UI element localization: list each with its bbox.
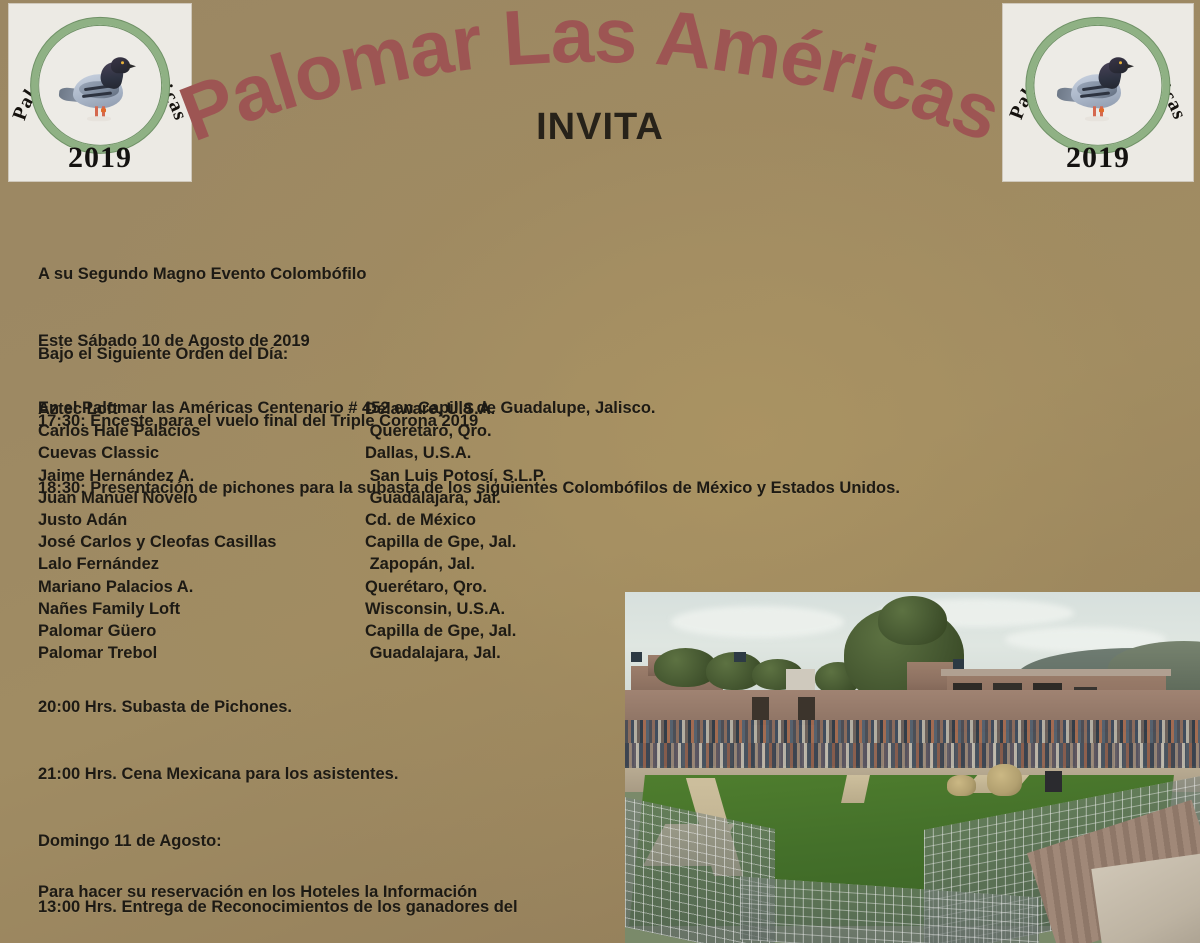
agenda-heading: Bajo el Siguiente Orden del Día: xyxy=(38,343,900,365)
loft-name: Aztec Loft xyxy=(38,398,365,420)
hotels-line: Para hacer su reservación en los Hoteles… xyxy=(38,881,477,903)
loft-location: Capilla de Gpe, Jal. xyxy=(365,531,516,553)
loft-row: Palomar GüeroCapilla de Gpe, Jal. xyxy=(38,620,618,642)
loft-location: Dallas, U.S.A. xyxy=(365,442,471,464)
loft-location: San Luis Potosí, S.L.P. xyxy=(365,465,546,487)
loft-name: Justo Adán xyxy=(38,509,365,531)
loft-row: Lalo Fernández Zapopán, Jal. xyxy=(38,553,618,575)
loft-row: Nañes Family LoftWisconsin, U.S.A. xyxy=(38,598,618,620)
loft-location: Capilla de Gpe, Jal. xyxy=(365,620,516,642)
loft-row: Cuevas ClassicDallas, U.S.A. xyxy=(38,442,618,464)
loft-location: Guadalajara, Jal. xyxy=(365,487,501,509)
loft-row: Mariano Palacios A.Querétaro, Qro. xyxy=(38,576,618,598)
loft-row: Aztec LoftDelaware, U.S.A. xyxy=(38,398,618,420)
loft-name: Cuevas Classic xyxy=(38,442,365,464)
loft-name: Juan Manuel Novelo xyxy=(38,487,365,509)
loft-location: Wisconsin, U.S.A. xyxy=(365,598,505,620)
loft-name: Nañes Family Loft xyxy=(38,598,365,620)
loft-row: Justo AdánCd. de México xyxy=(38,509,618,531)
loft-row: Carlos Hale Palacios Querétaro, Qro. xyxy=(38,420,618,442)
loft-name: José Carlos y Cleofas Casillas xyxy=(38,531,365,553)
lofts-list: Aztec LoftDelaware, U.S.A. Carlos Hale P… xyxy=(38,398,618,664)
loft-name: Lalo Fernández xyxy=(38,553,365,575)
loft-row: Jaime Hernández A. San Luis Potosí, S.L.… xyxy=(38,465,618,487)
hotels-block: Para hacer su reservación en los Hoteles… xyxy=(38,837,477,943)
invita-subtitle: INVITA xyxy=(0,106,1200,149)
logo-left: Palomar Las Américas 2019 xyxy=(8,3,192,182)
loft-name: Mariano Palacios A. xyxy=(38,576,365,598)
loft-name: Palomar Güero xyxy=(38,620,365,642)
loft-location: Cd. de México xyxy=(365,509,476,531)
loft-name: Jaime Hernández A. xyxy=(38,465,365,487)
logo-right: Palomar Las Américas 2019 xyxy=(1002,3,1194,182)
loft-row: José Carlos y Cleofas CasillasCapilla de… xyxy=(38,531,618,553)
loft-location: Zapopán, Jal. xyxy=(365,553,475,575)
poster-canvas: Palomar Las Américas 2019 Palomar Las Am… xyxy=(0,0,1200,943)
loft-name: Carlos Hale Palacios xyxy=(38,420,365,442)
loft-location: Querétaro, Qro. xyxy=(365,420,492,442)
schedule-line: 21:00 Hrs. Cena Mexicana para los asiste… xyxy=(38,763,518,785)
loft-row: Juan Manuel Novelo Guadalajara, Jal. xyxy=(38,487,618,509)
loft-location: Delaware, U.S.A. xyxy=(365,398,495,420)
intro-line: A su Segundo Magno Evento Colombófilo xyxy=(38,263,655,285)
loft-location: Querétaro, Qro. xyxy=(365,576,487,598)
schedule-line: 20:00 Hrs. Subasta de Pichones. xyxy=(38,696,518,718)
loft-courtyard-photo xyxy=(625,592,1200,943)
